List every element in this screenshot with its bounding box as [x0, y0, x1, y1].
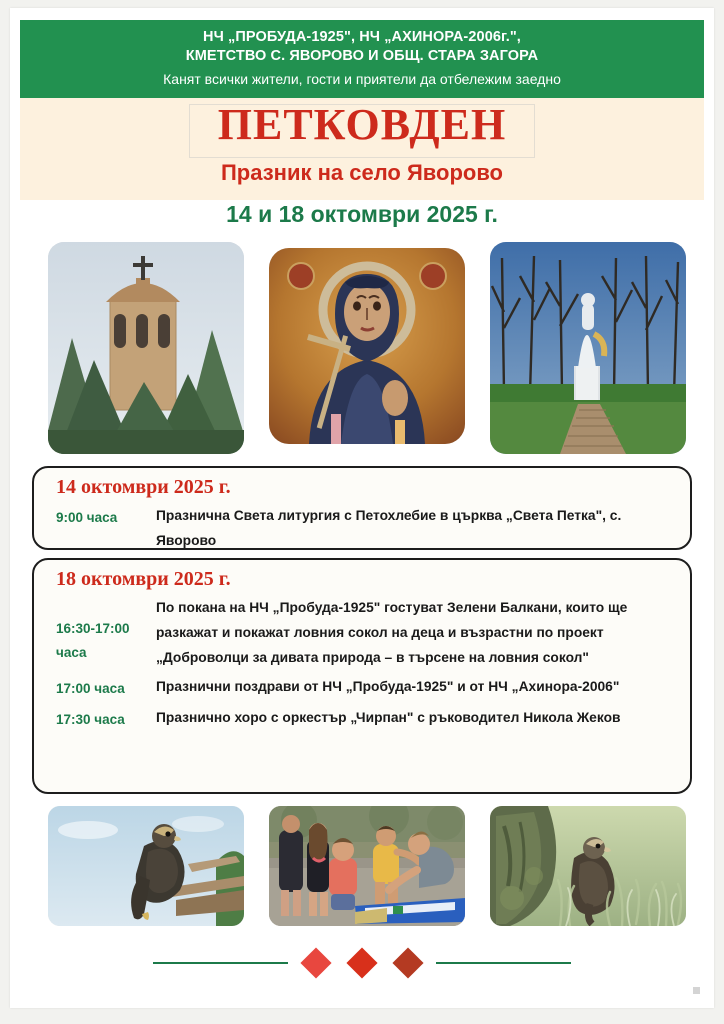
schedule-description: Празнична Света литургия с Петохлебие в …	[156, 503, 676, 553]
bottom-photo-row	[48, 806, 686, 928]
saint-petka-icon-photo	[269, 248, 465, 444]
ornament-diamond-1	[300, 947, 331, 978]
schedule-time: 16:30-17:00 часа	[48, 595, 156, 665]
schedule-time: 17:30 часа	[48, 705, 156, 732]
title-block: ПЕТКОВДЕН Празник на село Яворово	[20, 98, 704, 200]
schedule-row: 16:30-17:00 часа По покана на НЧ „Пробуд…	[48, 595, 676, 670]
schedule-heading: 14 октомври 2025 г.	[56, 476, 676, 499]
schedule-description: Празнични поздрави от НЧ „Пробуда-1925" …	[156, 674, 676, 699]
page-title: ПЕТКОВДЕН	[20, 102, 704, 148]
schedule-row: 9:00 часа Празнична Света литургия с Пет…	[48, 503, 676, 553]
schedule-time: 9:00 часа	[48, 503, 156, 530]
banner-organisations-line: НЧ „ПРОБУДА-1925", НЧ „АХИНОРА-2006г.",	[20, 28, 704, 47]
footer-ornament	[10, 948, 714, 978]
village-monument-photo	[490, 242, 686, 454]
falcon-in-grass-photo	[490, 806, 686, 926]
ornament-diamond-3	[392, 947, 423, 978]
resize-handle-icon[interactable]	[693, 987, 700, 994]
schedule-heading: 18 октомври 2025 г.	[56, 568, 676, 591]
page-subtitle: Празник на село Яворово	[20, 160, 704, 186]
schedule-description: Празнично хоро с оркестър „Чирпан" с рък…	[156, 705, 676, 730]
ornament-diamond-2	[346, 947, 377, 978]
schedule-time: 17:00 часа	[48, 674, 156, 701]
schedule-row: 17:30 часа Празнично хоро с оркестър „Чи…	[48, 705, 676, 732]
banner-invitation-line: Канят всички жители, гости и приятели да…	[20, 69, 704, 90]
church-bell-tower-photo	[48, 242, 244, 454]
schedule-box-october-14: 14 октомври 2025 г. 9:00 часа Празнична …	[32, 466, 692, 550]
schedule-description: По покана на НЧ „Пробуда-1925" гостуват …	[156, 595, 676, 670]
falcon-on-perch-photo	[48, 806, 244, 926]
children-activity-photo	[269, 806, 465, 926]
ornament-line-right	[436, 962, 571, 964]
top-photo-row	[48, 242, 686, 454]
organiser-banner: НЧ „ПРОБУДА-1925", НЧ „АХИНОРА-2006г.", …	[20, 20, 704, 98]
ornament-line-left	[153, 962, 288, 964]
event-dates: 14 и 18 октомври 2025 г.	[10, 201, 714, 228]
poster-canvas: НЧ „ПРОБУДА-1925", НЧ „АХИНОРА-2006г.", …	[10, 8, 714, 1008]
schedule-row: 17:00 часа Празнични поздрави от НЧ „Про…	[48, 674, 676, 701]
banner-municipality-line: КМЕТСТВО С. ЯВОРОВО И ОБЩ. СТАРА ЗАГОРА	[20, 47, 704, 66]
schedule-box-october-18: 18 октомври 2025 г. 16:30-17:00 часа По …	[32, 558, 692, 794]
